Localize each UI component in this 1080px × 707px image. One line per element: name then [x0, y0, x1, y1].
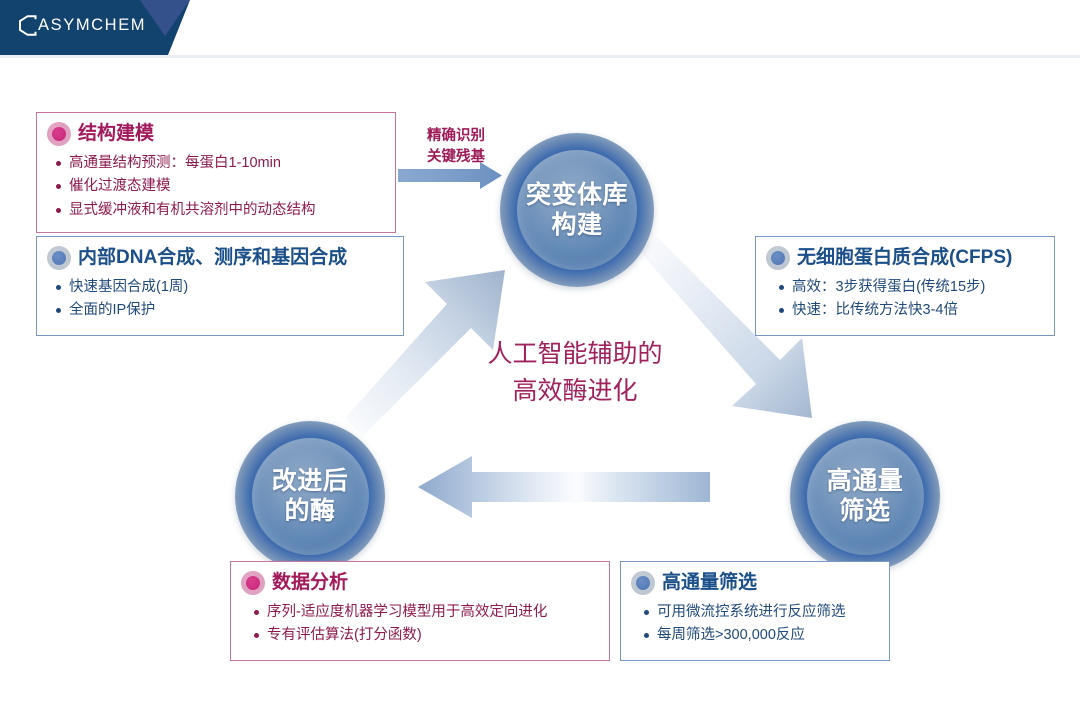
slide-canvas: ASYMCHEM [0, 0, 1080, 707]
card-header: 数据分析 [241, 571, 599, 595]
card-data-analysis[interactable]: 数据分析 序列-适应度机器学习模型用于高效定向进化 专有评估算法(打分函数) [230, 561, 610, 661]
logo-wordmark: ASYMCHEM [38, 16, 146, 35]
list-item: 快速：比传统方法快3-4倍 [792, 299, 1044, 322]
node-label-line2: 构建 [526, 210, 628, 241]
node-high-throughput-screening-core: 高通量 筛选 [807, 438, 924, 555]
node-mutant-library[interactable]: 突变体库 构建 [500, 133, 654, 287]
bullet-marker-icon [241, 571, 265, 595]
list-item: 高效：3步获得蛋白(传统15步) [792, 276, 1044, 299]
list-item: 序列-适应度机器学习模型用于高效定向进化 [267, 601, 599, 624]
card-cell-free-protein-synthesis[interactable]: 无细胞蛋白质合成(CFPS) 高效：3步获得蛋白(传统15步) 快速：比传统方法… [755, 236, 1055, 336]
card-bullet-list: 序列-适应度机器学习模型用于高效定向进化 专有评估算法(打分函数) [241, 601, 599, 648]
bullet-marker-icon [47, 122, 71, 146]
center-headline: 人工智能辅助的 高效酶进化 [430, 336, 720, 410]
header-accent-triangle [140, 0, 190, 36]
node-label-line2: 的酶 [272, 496, 349, 527]
bullet-marker-icon [47, 246, 71, 270]
arrow-label-line1: 精确识别 [396, 126, 516, 147]
node-high-throughput-screening[interactable]: 高通量 筛选 [790, 421, 940, 571]
card-title: 内部DNA合成、测序和基因合成 [78, 247, 347, 269]
list-item: 显式缓冲液和有机共溶剂中的动态结构 [69, 199, 385, 222]
card-header: 无细胞蛋白质合成(CFPS) [766, 246, 1044, 270]
node-improved-enzyme-core: 改进后 的酶 [252, 438, 369, 555]
node-improved-enzyme[interactable]: 改进后 的酶 [235, 421, 385, 571]
list-item: 每周筛选>300,000反应 [657, 624, 879, 647]
list-item: 专有评估算法(打分函数) [267, 624, 599, 647]
card-title: 数据分析 [272, 572, 348, 594]
list-item: 高通量结构预测：每蛋白1-10min [69, 152, 385, 175]
card-dna-synthesis[interactable]: 内部DNA合成、测序和基因合成 快速基因合成(1周) 全面的IP保护 [36, 236, 404, 336]
node-label-line1: 改进后 [272, 466, 349, 497]
card-bullet-list: 快速基因合成(1周) 全面的IP保护 [47, 276, 393, 323]
arrow-label-residue: 精确识别 关键残基 [396, 126, 516, 167]
list-item: 催化过渡态建模 [69, 175, 385, 198]
bullet-marker-icon [631, 571, 655, 595]
card-title: 高通量筛选 [662, 572, 757, 594]
card-high-throughput-screening[interactable]: 高通量筛选 可用微流控系统进行反应筛选 每周筛选>300,000反应 [620, 561, 890, 661]
node-mutant-library-label: 突变体库 构建 [526, 180, 628, 241]
arrow-screening-to-enzyme [410, 448, 710, 526]
bullet-marker-icon [766, 246, 790, 270]
card-header: 结构建模 [47, 122, 385, 146]
card-header: 内部DNA合成、测序和基因合成 [47, 246, 393, 270]
node-label-line1: 高通量 [827, 466, 904, 497]
center-headline-line2: 高效酶进化 [430, 373, 720, 410]
card-title: 结构建模 [78, 123, 154, 145]
card-bullet-list: 高通量结构预测：每蛋白1-10min 催化过渡态建模 显式缓冲液和有机共溶剂中的… [47, 152, 385, 222]
asymchem-logo: ASYMCHEM [18, 15, 146, 36]
card-bullet-list: 可用微流控系统进行反应筛选 每周筛选>300,000反应 [631, 601, 879, 648]
list-item: 全面的IP保护 [69, 299, 393, 322]
card-header: 高通量筛选 [631, 571, 879, 595]
header-divider [0, 55, 1080, 58]
node-high-throughput-screening-label: 高通量 筛选 [827, 466, 904, 527]
node-improved-enzyme-label: 改进后 的酶 [272, 466, 349, 527]
center-headline-line1: 人工智能辅助的 [430, 336, 720, 373]
card-title: 无细胞蛋白质合成(CFPS) [797, 247, 1012, 269]
node-label-line1: 突变体库 [526, 180, 628, 211]
node-label-line2: 筛选 [827, 496, 904, 527]
list-item: 快速基因合成(1周) [69, 276, 393, 299]
arrow-label-line2: 关键残基 [396, 147, 516, 168]
logo-c-icon [18, 15, 37, 36]
node-mutant-library-core: 突变体库 构建 [517, 150, 637, 270]
card-structure-modeling[interactable]: 结构建模 高通量结构预测：每蛋白1-10min 催化过渡态建模 显式缓冲液和有机… [36, 112, 396, 233]
list-item: 可用微流控系统进行反应筛选 [657, 601, 879, 624]
card-bullet-list: 高效：3步获得蛋白(传统15步) 快速：比传统方法快3-4倍 [766, 276, 1044, 323]
